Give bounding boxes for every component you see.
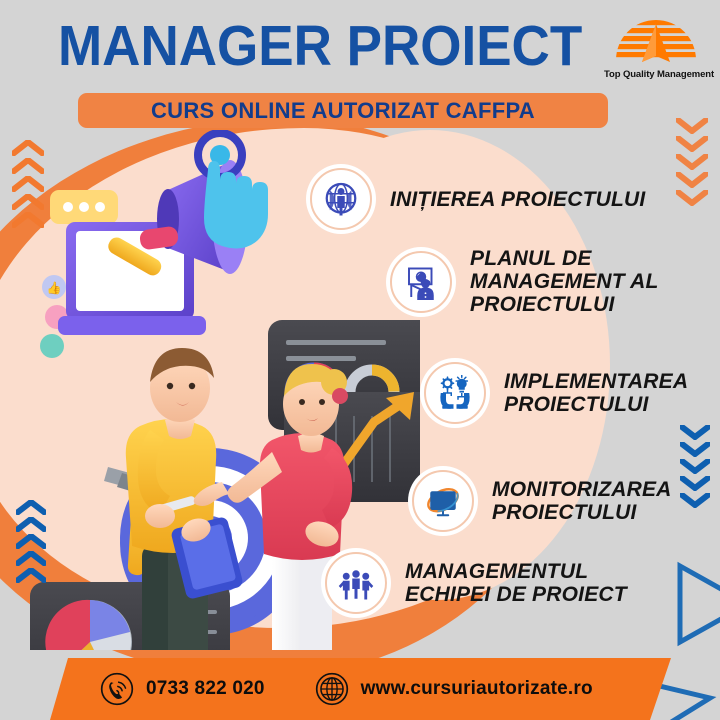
module-label: PLANUL DE MANAGEMENT AL PROIECTULUI	[470, 247, 658, 316]
cursor-tap-hand-icon	[198, 133, 268, 248]
monitor-orbit-icon	[425, 483, 461, 519]
chevrons-orange-left	[12, 140, 44, 228]
module-item-managementul-echipei[interactable]: MANAGEMENTUL ECHIPEI DE PROIECT	[325, 552, 627, 614]
phone-ring-icon	[100, 672, 134, 706]
chevrons-orange-right	[676, 118, 708, 206]
poster-canvas: 👍	[0, 0, 720, 720]
module-label: MONITORIZAREA PROIECTULUI	[492, 478, 672, 524]
module-bullet	[390, 251, 452, 313]
module-label: MANAGEMENTUL ECHIPEI DE PROIECT	[405, 560, 627, 606]
contact-website[interactable]: www.cursuriautorizate.ro	[315, 672, 593, 706]
brand-logo: Top Quality Management	[604, 18, 708, 80]
three-people-icon	[338, 565, 374, 601]
chat-bubble-icon	[50, 190, 118, 224]
module-bullet	[325, 552, 387, 614]
phone-number: 0733 822 020	[146, 678, 265, 700]
module-item-initierea[interactable]: INIȚIEREA PROIECTULUI	[310, 168, 645, 230]
triangle-outline-upper	[676, 560, 720, 655]
module-label: INIȚIEREA PROIECTULUI	[390, 188, 645, 211]
website-url: www.cursuriautorizate.ro	[361, 678, 593, 700]
module-bullet	[310, 168, 372, 230]
module-item-planul-de-management[interactable]: PLANUL DE MANAGEMENT AL PROIECTULUI	[390, 247, 658, 316]
presenter-chart-icon	[403, 264, 439, 300]
globe-person-icon	[323, 181, 359, 217]
striped-dome-arrow-logo-icon	[604, 18, 708, 68]
globe-grid-icon	[315, 672, 349, 706]
contact-phone[interactable]: 0733 822 020	[100, 672, 265, 706]
page-title: MANAGER PROIECT	[58, 16, 582, 76]
module-bullet	[424, 362, 486, 424]
module-item-monitorizarea[interactable]: MONITORIZAREA PROIECTULUI	[412, 470, 672, 532]
logo-caption: Top Quality Management	[604, 69, 708, 80]
chevrons-blue-right	[680, 425, 710, 508]
module-item-implementarea[interactable]: IMPLEMENTAREA PROIECTULUI	[424, 362, 688, 424]
svg-text:👍: 👍	[47, 281, 62, 295]
hands-gear-bulb-icon	[437, 375, 473, 411]
module-label: IMPLEMENTAREA PROIECTULUI	[504, 370, 688, 416]
contact-bar-content: 0733 822 020 www.cursuriautorizate.ro	[0, 658, 720, 720]
module-bullet	[412, 470, 474, 532]
course-badge: CURS ONLINE AUTORIZAT CAFFPA	[78, 93, 608, 128]
course-badge-label: CURS ONLINE AUTORIZAT CAFFPA	[151, 98, 535, 124]
chevrons-blue-left	[16, 500, 46, 583]
